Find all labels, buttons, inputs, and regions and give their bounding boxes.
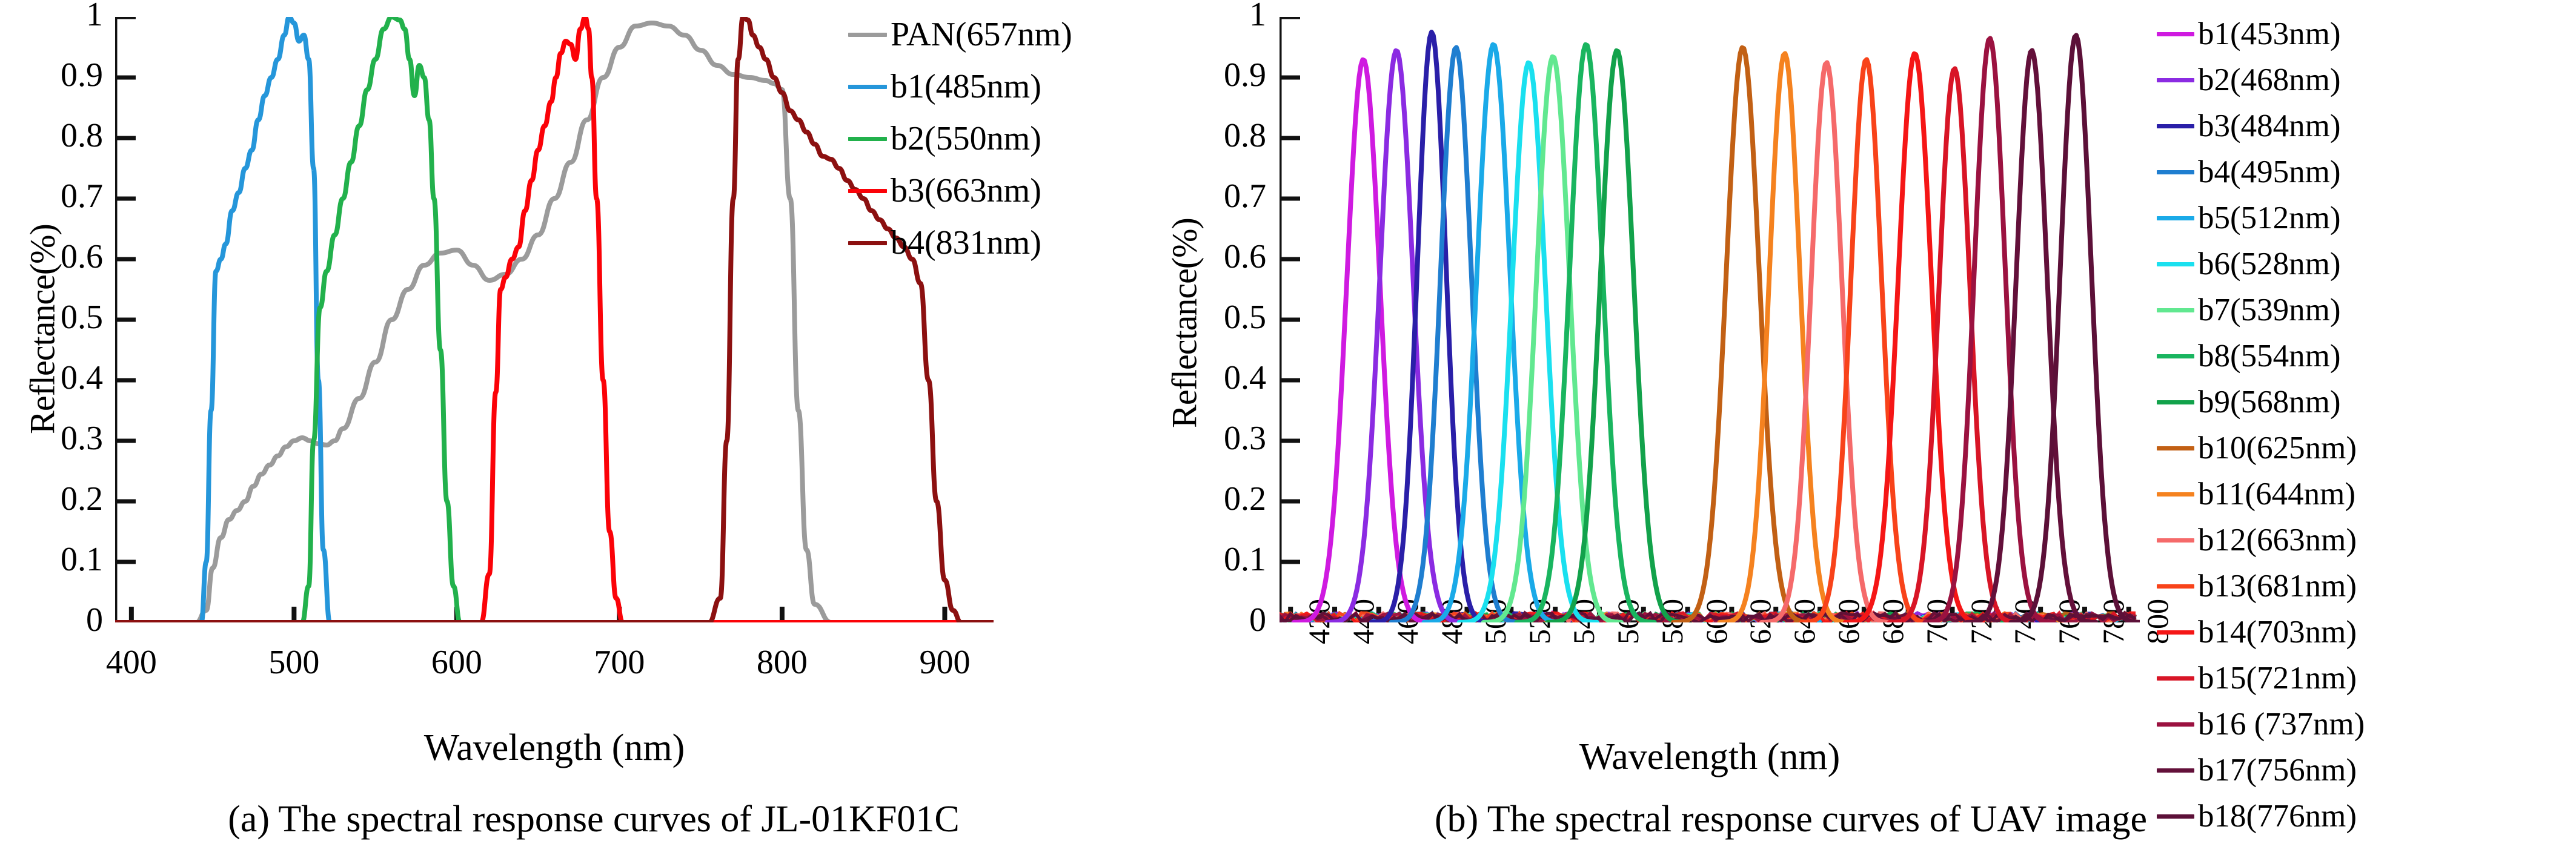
legend-color-swatch-icon <box>2157 32 2194 36</box>
legend-item[interactable]: b4(495nm) <box>2157 149 2365 195</box>
x-tick-label: 400 <box>77 643 186 682</box>
legend-item-label: b1(485nm) <box>891 70 1041 104</box>
legend-item-label: b17(756nm) <box>2198 754 2357 787</box>
panel-a-caption: (a) The spectral response curves of JL-0… <box>0 798 1187 841</box>
legend-item[interactable]: b14(703nm) <box>2157 609 2365 655</box>
legend-item[interactable]: b10(625nm) <box>2157 425 2365 471</box>
y-tick-label: 0.6 <box>1163 237 1266 276</box>
legend-item-label: b3(663nm) <box>891 174 1041 208</box>
spectral-response-figure: Reflectance(%) 00.10.20.30.40.50.60.70.8… <box>0 0 2576 861</box>
y-tick-label: 0.4 <box>0 358 103 397</box>
legend-item-label: b1(453nm) <box>2198 18 2341 50</box>
legend-item-label: b6(528nm) <box>2198 248 2341 280</box>
legend-item[interactable]: b4(831nm) <box>848 217 1072 269</box>
panel-b: Reflectance(%) 00.10.20.30.40.50.60.70.8… <box>1187 0 2576 861</box>
y-tick-label: 0 <box>0 601 103 639</box>
legend-color-swatch-icon <box>2157 308 2194 312</box>
legend-item[interactable]: b6(528nm) <box>2157 241 2365 287</box>
x-tick-label: 800 <box>728 643 837 682</box>
y-tick-label: 0.9 <box>0 56 103 94</box>
y-tick-label: 0.1 <box>0 540 103 579</box>
legend-color-swatch-icon <box>848 137 887 141</box>
panel-a-x-axis-label: Wavelength (nm) <box>115 727 994 770</box>
legend-color-swatch-icon <box>2157 170 2194 174</box>
panel-b-x-axis-label: Wavelength (nm) <box>1280 736 2140 779</box>
legend-item[interactable]: b3(484nm) <box>2157 103 2365 149</box>
legend-color-swatch-icon <box>2157 768 2194 773</box>
legend-item-label: b10(625nm) <box>2198 432 2357 464</box>
legend-item-label: b8(554nm) <box>2198 340 2341 372</box>
legend-item[interactable]: b13(681nm) <box>2157 563 2365 609</box>
legend-item[interactable]: b5(512nm) <box>2157 195 2365 241</box>
y-tick-label: 0.7 <box>1163 177 1266 216</box>
y-tick-label: 0.5 <box>0 298 103 337</box>
legend-item[interactable]: b2(468nm) <box>2157 57 2365 103</box>
y-tick-label: 0.4 <box>1163 358 1266 397</box>
x-tick-label: 600 <box>402 643 511 682</box>
y-tick-label: 0.3 <box>1163 419 1266 458</box>
panel-b-plot <box>1280 17 2140 622</box>
y-tick-label: 0.1 <box>1163 540 1266 579</box>
y-tick-label: 0.7 <box>0 177 103 216</box>
legend-item[interactable]: b9(568nm) <box>2157 379 2365 425</box>
legend-color-swatch-icon <box>2157 262 2194 266</box>
legend-color-swatch-icon <box>848 85 887 89</box>
legend-item[interactable]: b17(756nm) <box>2157 747 2365 793</box>
legend-item[interactable]: b7(539nm) <box>2157 287 2365 333</box>
legend-color-swatch-icon <box>2157 676 2194 681</box>
y-tick-label: 0.6 <box>0 237 103 276</box>
y-tick-label: 0.2 <box>0 480 103 518</box>
legend-item[interactable]: b1(453nm) <box>2157 11 2365 57</box>
y-tick-label: 1 <box>1163 0 1266 34</box>
legend-item-label: b7(539nm) <box>2198 294 2341 326</box>
legend-item-label: b4(495nm) <box>2198 156 2341 188</box>
panel-b-legend: b1(453nm)b2(468nm)b3(484nm)b4(495nm)b5(5… <box>2157 11 2365 839</box>
legend-item-label: PAN(657nm) <box>891 18 1072 51</box>
legend-color-swatch-icon <box>2157 630 2194 635</box>
legend-item-label: b9(568nm) <box>2198 386 2341 418</box>
y-tick-label: 0.3 <box>0 419 103 458</box>
legend-color-swatch-icon <box>2157 722 2194 727</box>
legend-item-label: b16 (737nm) <box>2198 708 2365 741</box>
legend-item[interactable]: b3(663nm) <box>848 165 1072 217</box>
legend-item-label: b5(512nm) <box>2198 202 2341 234</box>
panel-a-legend: PAN(657nm)b1(485nm)b2(550nm)b3(663nm)b4(… <box>848 8 1072 269</box>
y-tick-label: 0 <box>1163 601 1266 639</box>
legend-item[interactable]: b1(485nm) <box>848 61 1072 113</box>
legend-item-label: b2(550nm) <box>891 122 1041 156</box>
legend-item-label: b3(484nm) <box>2198 110 2341 142</box>
y-tick-label: 0.5 <box>1163 298 1266 337</box>
legend-item[interactable]: b11(644nm) <box>2157 471 2365 517</box>
panel-b-curves <box>1280 17 2140 622</box>
legend-color-swatch-icon <box>2157 216 2194 220</box>
x-tick-label: 700 <box>565 643 674 682</box>
legend-item[interactable]: b8(554nm) <box>2157 333 2365 379</box>
legend-color-swatch-icon <box>2157 492 2194 496</box>
legend-color-swatch-icon <box>2157 354 2194 358</box>
legend-color-swatch-icon <box>2157 400 2194 404</box>
y-tick-label: 0.8 <box>0 116 103 155</box>
legend-color-swatch-icon <box>2157 446 2194 450</box>
y-tick-label: 0.9 <box>1163 56 1266 94</box>
legend-color-swatch-icon <box>2157 584 2194 589</box>
legend-color-swatch-icon <box>2157 78 2194 82</box>
legend-item-label: b12(663nm) <box>2198 524 2357 556</box>
legend-item-label: b18(776nm) <box>2198 800 2357 833</box>
legend-item[interactable]: b18(776nm) <box>2157 793 2365 839</box>
legend-item[interactable]: PAN(657nm) <box>848 8 1072 61</box>
y-tick-label: 0.8 <box>1163 116 1266 155</box>
legend-color-swatch-icon <box>2157 124 2194 128</box>
legend-item[interactable]: b2(550nm) <box>848 113 1072 165</box>
y-tick-label: 1 <box>0 0 103 34</box>
legend-color-swatch-icon <box>848 189 887 193</box>
panel-a: Reflectance(%) 00.10.20.30.40.50.60.70.8… <box>0 0 1187 861</box>
legend-item-label: b14(703nm) <box>2198 616 2357 648</box>
legend-item[interactable]: b12(663nm) <box>2157 517 2365 563</box>
legend-item[interactable]: b16 (737nm) <box>2157 701 2365 747</box>
legend-color-swatch-icon <box>2157 538 2194 543</box>
legend-item-label: b15(721nm) <box>2198 662 2357 694</box>
legend-item-label: b11(644nm) <box>2198 478 2355 510</box>
legend-item-label: b2(468nm) <box>2198 64 2341 96</box>
legend-color-swatch-icon <box>848 241 887 245</box>
legend-color-swatch-icon <box>2157 814 2194 819</box>
legend-item[interactable]: b15(721nm) <box>2157 655 2365 701</box>
y-tick-label: 0.2 <box>1163 480 1266 518</box>
legend-item-label: b13(681nm) <box>2198 570 2357 602</box>
legend-item-label: b4(831nm) <box>891 226 1041 260</box>
x-tick-label: 900 <box>890 643 999 682</box>
x-tick-label: 500 <box>239 643 348 682</box>
legend-color-swatch-icon <box>848 33 887 37</box>
